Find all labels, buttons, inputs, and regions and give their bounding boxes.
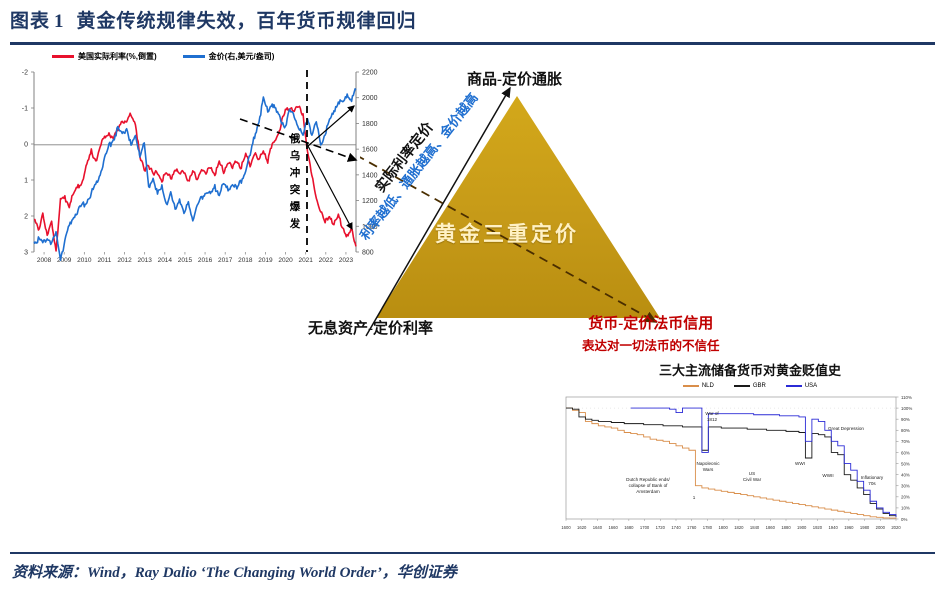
svg-text:发: 发	[289, 217, 301, 230]
svg-text:1860: 1860	[766, 525, 776, 530]
legend-item-usa: USA	[786, 383, 817, 389]
legend-label-real-rate: 美国实际利率(%,倒置)	[78, 51, 157, 62]
svg-text:1640: 1640	[593, 525, 603, 530]
figure-number: 1	[54, 11, 65, 32]
inset-x-ticks: 1600162016401660168017001720174017601780…	[561, 519, 901, 530]
svg-text:2009: 2009	[57, 257, 72, 264]
svg-text:War of: War of	[705, 411, 719, 416]
svg-text:100%: 100%	[901, 406, 912, 411]
svg-text:2020: 2020	[891, 525, 901, 530]
svg-text:1812: 1812	[707, 417, 718, 422]
legend-label-nld: NLD	[702, 383, 714, 389]
svg-text:2010: 2010	[77, 257, 92, 264]
svg-text:2023: 2023	[339, 257, 354, 264]
svg-text:1940: 1940	[828, 525, 838, 530]
svg-text:突: 突	[290, 183, 301, 196]
svg-text:collapse of Bank of: collapse of Bank of	[629, 483, 669, 488]
svg-text:WWII: WWII	[822, 473, 833, 478]
legend-swatch-nld	[683, 385, 699, 387]
svg-text:俄: 俄	[289, 132, 301, 145]
svg-text:90%: 90%	[901, 417, 910, 422]
legend-item-nld: NLD	[683, 383, 714, 389]
legend-item-real-rate: 美国实际利率(%,倒置)	[52, 51, 157, 62]
svg-text:2021: 2021	[298, 257, 313, 264]
figure-title-text: 黄金传统规律失效，百年货币规律回归	[77, 11, 417, 32]
svg-text:2014: 2014	[158, 257, 173, 264]
svg-text:60%: 60%	[901, 450, 910, 455]
svg-text:70s: 70s	[868, 481, 876, 486]
svg-text:2019: 2019	[258, 257, 273, 264]
legend-label-gbr: GBR	[753, 383, 766, 389]
svg-text:2008: 2008	[37, 257, 52, 264]
legend-swatch-usa	[786, 385, 802, 387]
svg-text:70%: 70%	[901, 439, 910, 444]
svg-text:1: 1	[24, 178, 28, 185]
svg-text:2012: 2012	[117, 257, 132, 264]
svg-text:1680: 1680	[624, 525, 634, 530]
svg-text:30%: 30%	[901, 484, 910, 489]
svg-text:2020: 2020	[278, 257, 293, 264]
svg-text:20%: 20%	[901, 495, 910, 500]
svg-text:0: 0	[24, 142, 28, 149]
svg-text:Wars: Wars	[703, 467, 714, 472]
triangle-label-bottom-left: 无息资产-定价利率	[308, 317, 433, 338]
svg-text:2016: 2016	[198, 257, 213, 264]
svg-text:110%: 110%	[901, 395, 912, 400]
svg-text:1740: 1740	[671, 525, 681, 530]
svg-text:2013: 2013	[137, 257, 152, 264]
inset-chart-title: 三大主流储备货币对黄金贬值史	[560, 360, 940, 379]
svg-text:Amsterdam: Amsterdam	[636, 489, 660, 494]
svg-text:Napoleonic: Napoleonic	[697, 461, 721, 466]
inset-plot-border	[566, 397, 896, 519]
svg-text:1: 1	[693, 495, 696, 500]
svg-text:乌: 乌	[290, 149, 301, 162]
triangle-label-top: 商品-定价通胀	[467, 68, 562, 89]
svg-text:2018: 2018	[238, 257, 253, 264]
triangle-center-label: 黄金三重定价	[435, 218, 579, 248]
svg-text:WWI: WWI	[795, 461, 805, 466]
svg-text:2000: 2000	[876, 525, 886, 530]
legend-item-gbr: GBR	[734, 383, 766, 389]
figure-label: 图表	[10, 11, 50, 32]
svg-text:1900: 1900	[797, 525, 807, 530]
triangle-label-bottom-right-main: 货币-定价法币信用	[588, 316, 713, 332]
main-chart-plot: -2-10123 8001000120014001600180020002200…	[4, 64, 394, 273]
figure-header: 图表1黄金传统规律失效，百年货币规律回归	[10, 6, 935, 42]
svg-text:80%: 80%	[901, 428, 910, 433]
inset-y-ticks: 0%10%20%30%40%50%60%70%80%90%100%110%	[896, 395, 912, 522]
triangle-label-bottom-right: 货币-定价法币信用 表达对一切法币的不信任	[582, 312, 720, 354]
svg-text:1820: 1820	[734, 525, 744, 530]
legend-swatch-real-rate	[52, 55, 74, 58]
svg-text:1840: 1840	[750, 525, 760, 530]
svg-text:1980: 1980	[860, 525, 870, 530]
event-annotation-text: 俄乌冲突爆发	[289, 132, 301, 230]
svg-text:50%: 50%	[901, 461, 910, 466]
svg-text:1620: 1620	[577, 525, 587, 530]
main-chart-svg: -2-10123 8001000120014001600180020002200…	[4, 64, 394, 273]
header-divider	[10, 42, 935, 45]
svg-text:1880: 1880	[781, 525, 791, 530]
inset-chart-legend: NLD GBR USA	[560, 380, 940, 392]
legend-label-usa: USA	[805, 383, 817, 389]
legend-swatch-gold-price	[183, 55, 205, 58]
svg-text:US: US	[749, 471, 755, 476]
svg-text:1700: 1700	[640, 525, 650, 530]
inset-chart: 三大主流储备货币对黄金贬值史 NLD GBR USA 0%10%20%30%40…	[560, 360, 940, 545]
left-axis-ticks: -2-10123	[22, 70, 34, 257]
svg-text:爆: 爆	[290, 200, 301, 213]
main-chart-legend: 美国实际利率(%,倒置) 金价(右,美元/盎司)	[52, 48, 382, 64]
svg-text:-1: -1	[22, 106, 28, 113]
svg-text:Inflationary: Inflationary	[861, 475, 884, 480]
svg-text:冲: 冲	[290, 166, 301, 179]
svg-text:Great Depression: Great Depression	[828, 426, 864, 431]
inset-chart-svg: 0%10%20%30%40%50%60%70%80%90%100%110% 16…	[560, 393, 940, 545]
svg-text:2022: 2022	[319, 257, 334, 264]
svg-text:3: 3	[24, 250, 28, 257]
source-note: 资料来源：Wind，Ray Dalio ‘The Changing World …	[12, 561, 932, 582]
svg-text:2: 2	[24, 214, 28, 221]
triangle-label-bottom-right-sub: 表达对一切法币的不信任	[582, 335, 720, 354]
svg-text:-2: -2	[22, 70, 28, 77]
x-axis-ticks: 2008200920102011201220132014201520162017…	[37, 252, 354, 264]
svg-text:Dutch Republic ends/: Dutch Republic ends/	[626, 477, 670, 482]
triangle-diagram: 商品-定价通胀 无息资产-定价利率 货币-定价法币信用 表达对一切法币的不信任 …	[360, 60, 700, 360]
svg-text:1780: 1780	[703, 525, 713, 530]
legend-swatch-gbr	[734, 385, 750, 387]
svg-text:1600: 1600	[561, 525, 571, 530]
page-title: 图表1黄金传统规律失效，百年货币规律回归	[10, 6, 935, 33]
inset-chart-plot: 0%10%20%30%40%50%60%70%80%90%100%110% 16…	[560, 393, 940, 545]
svg-text:Civil War: Civil War	[743, 477, 762, 482]
svg-text:0%: 0%	[901, 517, 907, 522]
svg-text:2015: 2015	[178, 257, 193, 264]
svg-text:1800: 1800	[718, 525, 728, 530]
svg-text:2011: 2011	[97, 257, 111, 264]
legend-label-gold-price: 金价(右,美元/盎司)	[209, 51, 275, 62]
figure-root: 图表1黄金传统规律失效，百年货币规律回归 美国实际利率(%,倒置) 金价(右,美…	[0, 0, 945, 589]
svg-text:40%: 40%	[901, 472, 910, 477]
footer-divider	[10, 552, 935, 554]
svg-text:1760: 1760	[687, 525, 697, 530]
svg-text:1920: 1920	[813, 525, 823, 530]
svg-text:1660: 1660	[608, 525, 618, 530]
svg-text:1960: 1960	[844, 525, 854, 530]
svg-text:2017: 2017	[218, 257, 233, 264]
legend-item-gold-price: 金价(右,美元/盎司)	[183, 51, 275, 62]
svg-text:10%: 10%	[901, 506, 910, 511]
main-line-chart: 美国实际利率(%,倒置) 金价(右,美元/盎司) -2-10123 800100…	[4, 48, 394, 273]
svg-text:1720: 1720	[656, 525, 666, 530]
